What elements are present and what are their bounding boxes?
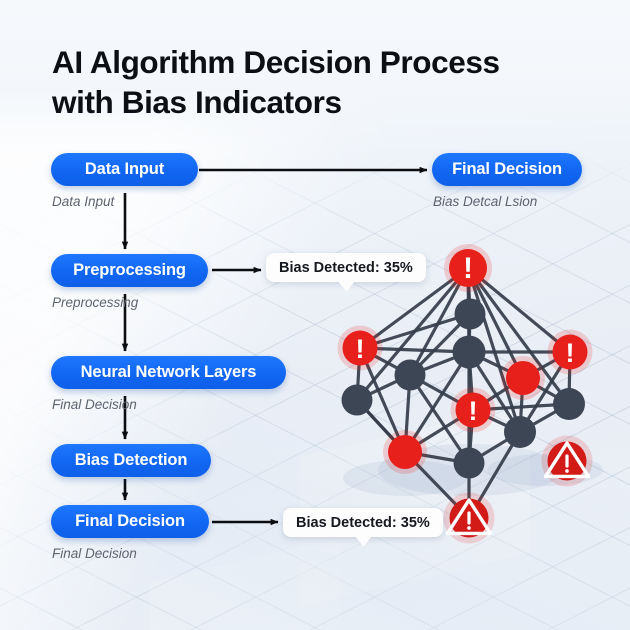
flow-node-data-input[interactable]: Data Input [51, 153, 198, 186]
infographic-canvas: AI Algorithm Decision Process with Bias … [0, 0, 630, 630]
flow-node-caption-preprocessing: Preprocessing [52, 295, 138, 310]
graph-node-normal[interactable] [342, 385, 373, 416]
flow-node-caption-final-decision: Final Decision [52, 546, 137, 561]
graph-node-biased[interactable] [388, 435, 422, 469]
flow-node-caption-final-decision-right: Bias Detcal Lsion [433, 194, 537, 209]
flow-node-label: Final Decision [75, 512, 185, 531]
exclamation-icon: ! [565, 337, 574, 368]
graph-node-biased[interactable] [506, 361, 540, 395]
graph-node-normal[interactable] [454, 448, 485, 479]
warning-exclamation-dot [467, 526, 471, 530]
flow-node-label: Preprocessing [73, 261, 186, 280]
flow-node-caption-data-input: Data Input [52, 194, 114, 209]
exclamation-icon: ! [463, 252, 473, 285]
warning-exclamation-dot [565, 469, 569, 473]
flow-node-preprocessing[interactable]: Preprocessing [51, 254, 208, 287]
graph-node-normal[interactable] [395, 360, 426, 391]
graph-node-normal[interactable] [453, 336, 486, 369]
flow-node-label: Final Decision [452, 160, 562, 179]
flow-node-caption-neural-layers: Final Decision [52, 397, 137, 412]
flow-node-final-decision-right[interactable]: Final Decision [432, 153, 582, 186]
flow-node-label: Bias Detection [75, 451, 188, 470]
graph-node-normal[interactable] [504, 416, 536, 448]
flow-node-label: Data Input [85, 160, 164, 179]
flow-node-neural-layers[interactable]: Neural Network Layers [51, 356, 286, 389]
flow-node-final-decision[interactable]: Final Decision [51, 505, 209, 538]
flow-node-bias-detection[interactable]: Bias Detection [51, 444, 211, 477]
exclamation-icon: ! [468, 395, 477, 426]
badge-preprocessing[interactable]: Bias Detected: 35% [266, 253, 426, 282]
badge-final-decision[interactable]: Bias Detected: 35% [283, 508, 443, 537]
graph-node-normal[interactable] [455, 299, 486, 330]
exclamation-icon: ! [355, 333, 364, 364]
flow-node-label: Neural Network Layers [81, 363, 257, 382]
graph-node-normal[interactable] [553, 388, 585, 420]
